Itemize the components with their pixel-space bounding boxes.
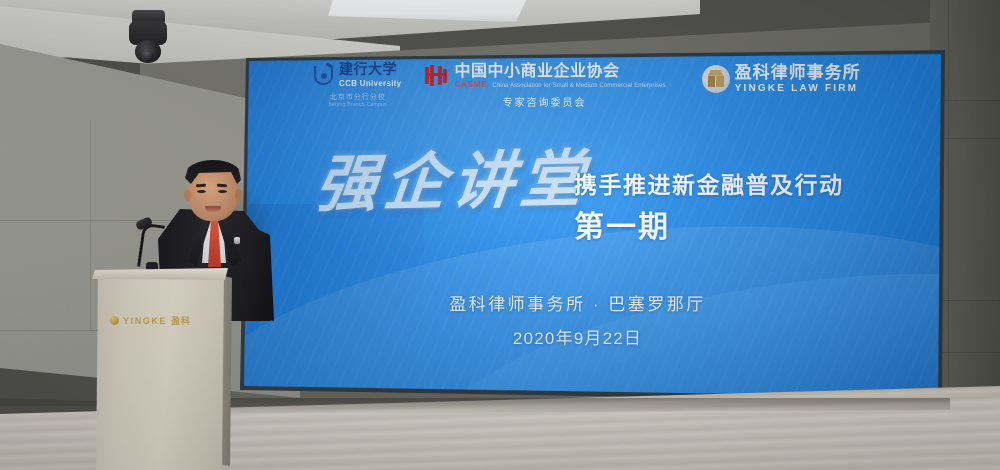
logo-ccb-university: 建行大学 CCB University 北京市分行分校 Beijing Bran… <box>314 64 401 108</box>
ptz-dome-camera-icon <box>128 10 170 68</box>
event-title-calligraphy: 强企讲堂 <box>313 149 592 217</box>
event-date: 2020年9月22日 <box>244 324 911 349</box>
wall-panel-seam <box>90 120 91 330</box>
casme-department: 专家咨询委员会 <box>503 94 587 109</box>
wall-panel-seam <box>940 100 1000 101</box>
logo-casme: 中国中小商业企业协会 CASME China Association for S… <box>423 64 665 109</box>
ccb-en-name: CCB University <box>339 79 401 89</box>
yingke-cube-icon <box>702 65 730 93</box>
speaker <box>158 167 276 279</box>
speaker-mouth <box>205 206 221 212</box>
yingke-en-name: YINGKE LAW FIRM <box>735 83 859 94</box>
event-subtitle-line2: 第一期 <box>574 202 670 246</box>
lapel-pin-icon <box>234 237 240 244</box>
speaker-arm-right <box>244 225 274 321</box>
event-subtitle-line1: 携手推进新金融普及行动 <box>574 166 844 200</box>
wall-panel-seam <box>940 352 1000 353</box>
conference-hall-scene: 建行大学 CCB University 北京市分行分校 Beijing Bran… <box>0 0 1000 470</box>
casme-pillars-icon <box>423 65 449 89</box>
podium-top-surface <box>92 268 228 280</box>
podium-brand-en: YINGKE <box>123 316 167 326</box>
wall-panel-seam <box>940 138 1000 139</box>
speaker-ear-left <box>184 189 191 201</box>
casme-en-name: China Association for Small & Medium Com… <box>492 83 665 89</box>
podium-brand-logo: YINGKE 盈科 <box>110 314 190 327</box>
led-presentation-screen[interactable]: 建行大学 CCB University 北京市分行分校 Beijing Bran… <box>244 54 941 401</box>
camera-lens-icon <box>142 49 155 62</box>
podium <box>96 272 224 470</box>
ccb-sub-en: Beijing Branch Campus <box>328 102 387 108</box>
casme-cn-name: 中国中小商业企业协会 <box>454 64 619 80</box>
podium-brand-cn: 盈科 <box>171 314 190 327</box>
speaker-ear-right <box>235 189 242 201</box>
ccb-sub-cn: 北京市分行分校 <box>330 92 386 102</box>
yingke-cn-name: 盈科律师事务所 <box>735 64 861 82</box>
speaker-eye-left <box>197 190 206 193</box>
yingke-podium-mark-icon <box>110 316 119 325</box>
wall-panel-seam <box>940 300 1000 301</box>
speaker-eye-right <box>218 190 227 193</box>
event-venue: 盈科律师事务所 · 巴塞罗那厅 <box>244 290 911 315</box>
ccb-cn-name: 建行大学 <box>339 64 397 78</box>
logo-yingke: 盈科律师事务所 YINGKE LAW FIRM <box>702 64 861 94</box>
sponsor-logo-bar: 建行大学 CCB University 北京市分行分校 Beijing Bran… <box>314 64 914 126</box>
casme-abbr: CASME <box>454 80 487 89</box>
screen-wave-graphic <box>389 232 941 401</box>
ccb-u-mark-icon <box>314 65 334 87</box>
